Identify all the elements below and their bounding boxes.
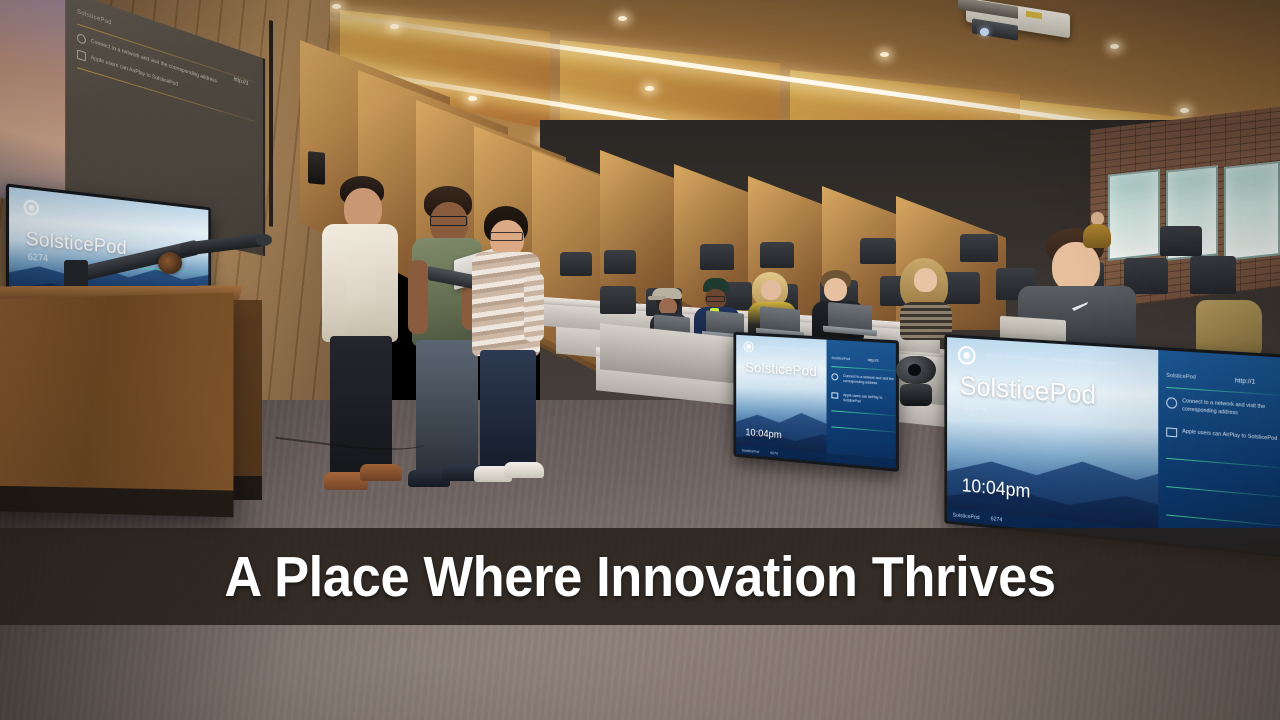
eyeglasses [490, 232, 523, 241]
main-bottom-code: 6274 [985, 515, 1008, 523]
chair [600, 286, 636, 314]
eyeglasses [430, 216, 467, 226]
center-bottom-code: 6274 [765, 450, 784, 456]
solstice-logo-icon [744, 341, 754, 352]
center-bottom-name: SolsticePod [736, 447, 765, 454]
window-3 [1224, 161, 1280, 261]
main-instruction-1: Connect to a network and visit the corre… [1166, 397, 1280, 422]
page-title: A Place Where Innovation Thrives [51, 528, 1229, 625]
solstice-logo-icon [958, 346, 975, 366]
main-pod-code: 6274 [964, 400, 987, 413]
person-student-right [472, 206, 550, 488]
center-panel-url: http://1 [868, 358, 879, 363]
center-instruction-1: Connect to a network and visit the corre… [831, 373, 895, 387]
chair [700, 244, 734, 270]
monitor-icon [1166, 427, 1177, 437]
main-instruction-2: Apple users can AirPlay to SolsticePod [1166, 427, 1280, 445]
center-info-panel: SolsticePod http://1 Connect to a networ… [827, 340, 896, 469]
chair [860, 238, 896, 264]
seated-student-5 [898, 258, 960, 340]
eyeglasses [706, 296, 725, 302]
main-info-panel: SolsticePod http://1 Connect to a networ… [1158, 350, 1280, 554]
chair [1190, 256, 1236, 294]
chair [760, 242, 794, 268]
main-panel-name: SolsticePod [1166, 373, 1196, 381]
main-solstice-display: solstice wireless display - Unable to re… [944, 334, 1280, 558]
document-camera [60, 232, 270, 292]
ceiling-projector [958, 2, 1078, 46]
center-instruction-2: Apple users can AirPlay to SolsticePod [831, 392, 895, 407]
person-instructor [322, 176, 410, 506]
center-solstice-display: solstice wireless display - Unable to re… [733, 332, 898, 472]
center-pod-code: 6274 [747, 375, 759, 382]
solstice-ring-icon [77, 33, 86, 45]
main-bottom-name: SolsticePod [947, 512, 985, 522]
chair [604, 250, 636, 274]
main-panel-url: http://1 [1235, 377, 1255, 386]
podium [0, 293, 233, 518]
chair [560, 252, 592, 276]
lecture-hall-photo: SolsticePod http://1 Connect to a networ… [0, 0, 1280, 720]
lectern-pod-code: 6274 [28, 251, 48, 263]
coat-on-chair [1196, 300, 1262, 356]
monitor-icon [831, 392, 838, 399]
center-panel-name: SolsticePod [831, 356, 850, 361]
solstice-ring-icon [831, 373, 838, 380]
chair [1160, 226, 1202, 256]
solstice-ring-icon [1166, 397, 1177, 409]
seated-student-far [1083, 212, 1113, 248]
monitor-icon [77, 49, 86, 61]
projection-photo [0, 0, 65, 212]
chair [960, 234, 998, 262]
conference-camera [896, 356, 936, 414]
projection-rule-2 [77, 67, 255, 122]
projection-rule-1 [77, 23, 255, 82]
